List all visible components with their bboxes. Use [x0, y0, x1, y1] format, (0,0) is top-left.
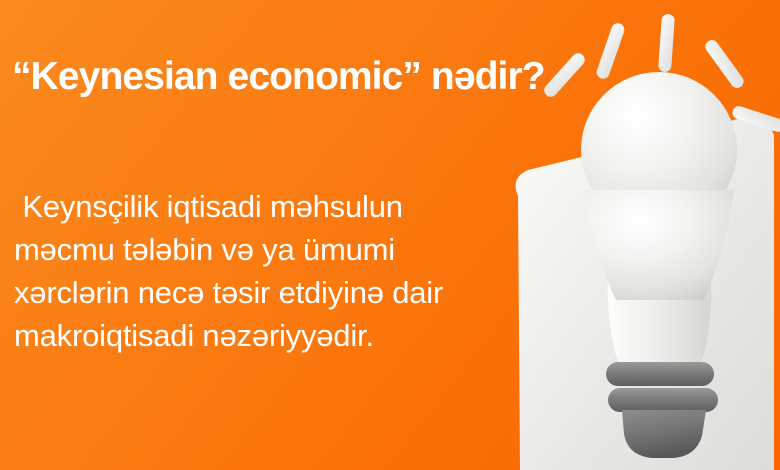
page-title: “Keynesian economic” nədir? [12, 53, 692, 101]
bulb-base [606, 362, 718, 458]
body-paragraph: Keynsçilik iqtisadi məhsulun məcmu tələb… [14, 185, 544, 357]
slide-canvas: “Keynesian economic” nədir? Keynsçilik i… [0, 0, 780, 470]
bulb-shape [581, 72, 737, 378]
text-block: “Keynesian economic” nədir? Keynsçilik i… [0, 0, 560, 470]
